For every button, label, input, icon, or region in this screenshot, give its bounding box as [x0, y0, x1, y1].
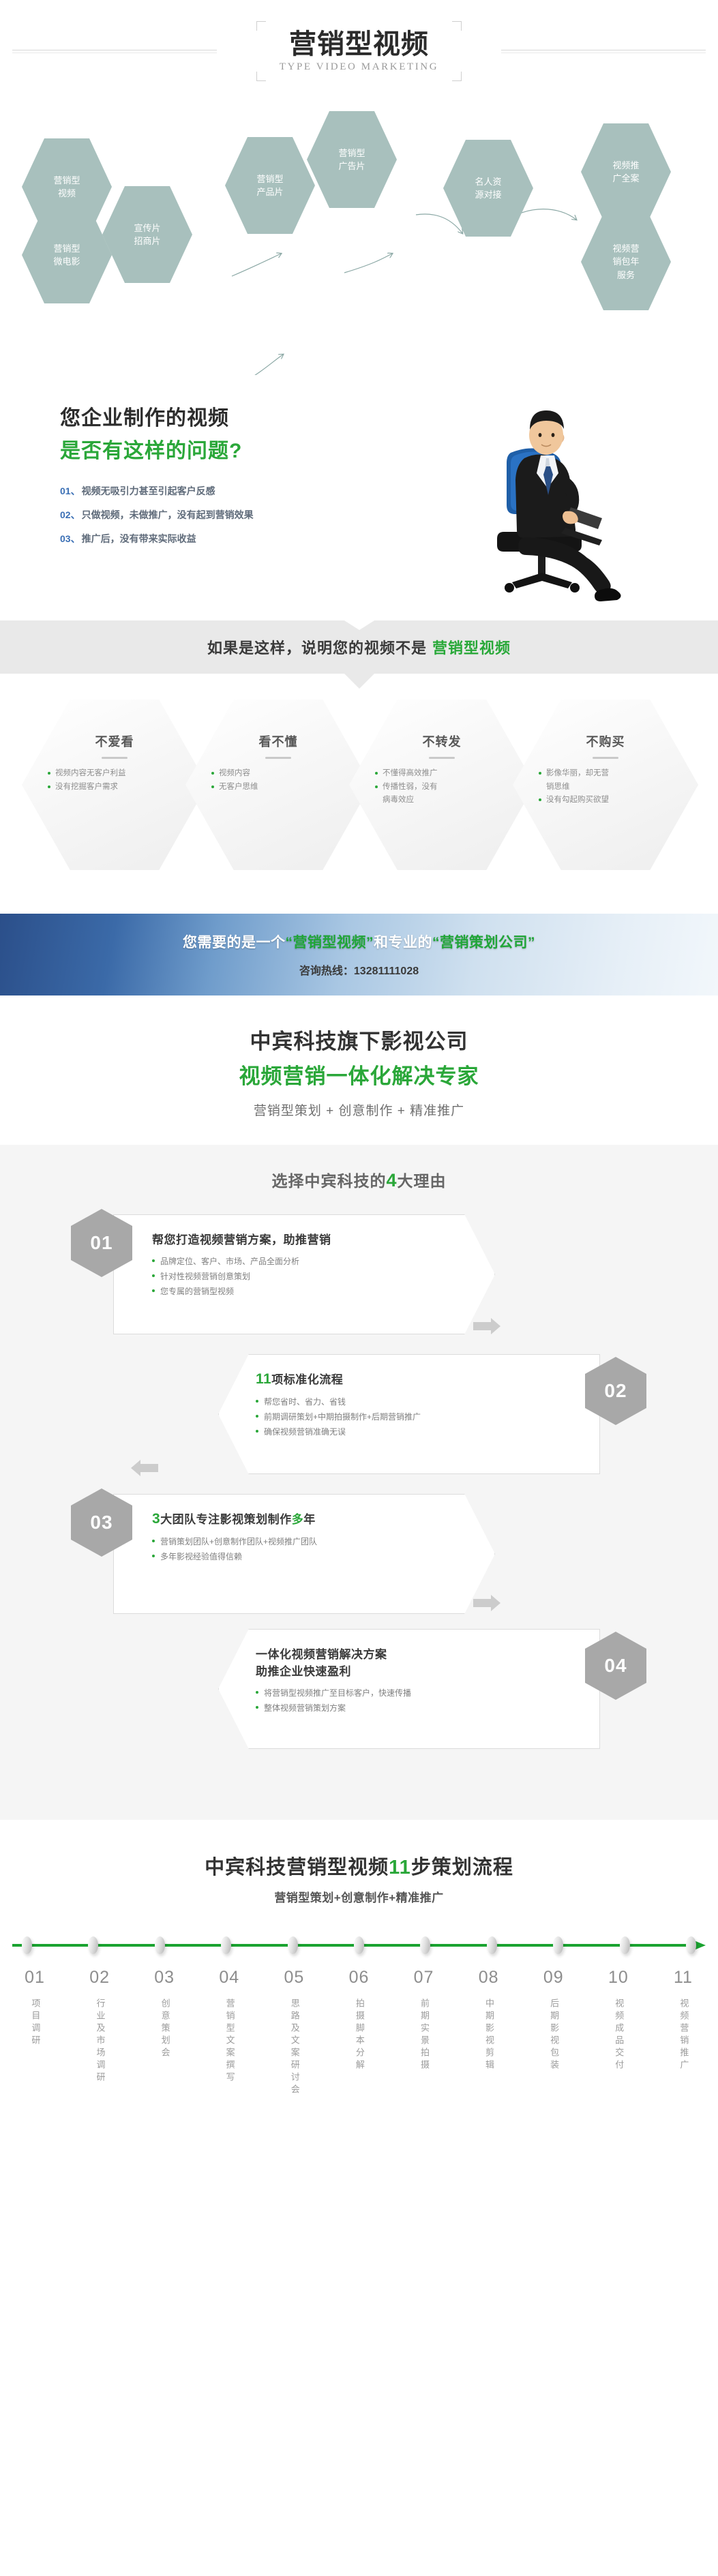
timeline-node[interactable] — [420, 1936, 430, 1954]
flow-arrow-icon — [470, 1318, 502, 1345]
divider — [429, 757, 455, 759]
reason-heading-text: 帮您打造视频营销方案，助推营销 — [152, 1233, 331, 1246]
reason-bullets: 帮您省时、省力、省钱 前期调研策划+中期拍摄制作+后期营销推广 确保视频营销准确… — [256, 1394, 558, 1440]
problem-heading-dark: 您企业制作的视频 — [60, 401, 380, 431]
reason-item-3[interactable]: 3大团队专注影视策划制作多年 营销策划团队+创意制作团队+视频推广团队 多年影视… — [61, 1488, 498, 1618]
reason-card: 一体化视频营销解决方案 助推企业快速盈利 将营销型视频推广至目标客户，快速传播 … — [218, 1629, 600, 1749]
hotline-number: 13281111028 — [354, 965, 419, 977]
reason-item-2[interactable]: 11项标准化流程 帮您省时、省力、省钱 前期调研策划+中期拍摄制作+后期营销推广… — [218, 1349, 655, 1478]
divider — [593, 757, 618, 759]
reason-heading: 11项标准化流程 — [256, 1370, 558, 1388]
timeline-step-label: 行业及市场调研 — [92, 1998, 108, 2084]
problem-heading-green: 是否有这样的问题? — [60, 434, 380, 464]
timeline-step-index: 09 — [527, 1968, 580, 1988]
list-item: 营销策划团队+创意制作团队+视频推广团队 — [152, 1534, 467, 1549]
corner-bracket-icon — [452, 72, 462, 81]
hex-label-line1: 营销型 — [256, 173, 283, 186]
timeline-step[interactable]: 01 项目调研 — [8, 1968, 61, 2100]
timeline-node[interactable] — [221, 1936, 231, 1954]
cta-quote-1: “营销型视频” — [286, 935, 374, 950]
reason-card: 帮您打造视频营销方案，助推营销 品牌定位、客户、市场、产品全面分析 针对性视频营… — [113, 1214, 495, 1334]
problem-item-text: 视频无吸引力甚至引起客户反感 — [82, 485, 215, 496]
timeline-section: 中宾科技营销型视频11步策划流程 营销型策划+创意制作+精准推广 — [0, 1820, 718, 2127]
hex-service-6[interactable]: 名人资 源对接 — [443, 138, 533, 239]
timeline-step-label: 后期影视包装 — [545, 1998, 561, 2072]
hex-label-line2: 产品片 — [256, 185, 283, 199]
hex-label-line1: 营销型 — [338, 147, 365, 160]
list-item: 无客户思维 — [211, 781, 345, 794]
timeline-track — [12, 1936, 706, 1954]
symptom-card-3[interactable]: 不转发 不懂得高效推广 传播性弱，没有 病毒效应 — [349, 700, 535, 870]
timeline-step-index: 11 — [657, 1968, 710, 1988]
timeline-step-index: 05 — [267, 1968, 320, 1988]
list-item: 视频内容 — [211, 767, 345, 781]
hex-label-line1: 名人资 — [475, 175, 501, 189]
symptom-card-title: 不购买 — [586, 732, 625, 750]
hex-label-line2: 源对接 — [475, 188, 501, 202]
gray-banner-green: 营销型视频 — [432, 640, 511, 657]
notch-top-icon — [344, 620, 374, 630]
page-header: 营销型视频 TYPE VIDEO MARKETING — [0, 0, 718, 102]
timeline-title-suffix: 步策划流程 — [411, 1857, 513, 1878]
timeline-step[interactable]: 07 前期实景拍摄 — [398, 1968, 451, 2100]
hex-label-line2: 招商片 — [134, 235, 160, 248]
symptom-card-title: 不转发 — [423, 732, 462, 750]
reason-heading-text: 大团队专注影视策划制作 — [160, 1513, 292, 1526]
timeline-step-label: 前期实景拍摄 — [416, 1998, 432, 2072]
timeline-step-index: 03 — [138, 1968, 191, 1988]
problem-section: 您企业制作的视频 是否有这样的问题? 01、视频无吸引力甚至引起客户反感 02、… — [0, 375, 718, 620]
timeline-node[interactable] — [22, 1936, 32, 1954]
reason-body: 3大团队专注影视策划制作多年 营销策划团队+创意制作团队+视频推广团队 多年影视… — [114, 1495, 494, 1564]
list-item: 整体视频营销策划方案 — [256, 1701, 558, 1716]
reasons-title-number: 4 — [386, 1170, 397, 1190]
gray-banner-dark: 如果是这样，说明您的视频不是 — [207, 640, 427, 657]
corner-bracket-icon — [452, 21, 462, 31]
reasons-title-suffix: 大理由 — [398, 1172, 447, 1190]
list-item-continuation: 病毒效应 — [375, 794, 509, 807]
timeline-step[interactable]: 03 创意策划会 — [138, 1968, 191, 2100]
timeline-node[interactable] — [288, 1936, 298, 1954]
hotline[interactable]: 咨询热线：13281111028 — [299, 961, 419, 978]
service-hex-map: 营销型 视频 宣传片 招商片 营销型 微电影 营销型 产品片 — [0, 102, 718, 375]
symptom-card-4[interactable]: 不购买 影像华丽，却无营 销思维 没有勾起购买欲望 — [513, 700, 698, 870]
timeline-step-label: 视频营销推广 — [676, 1998, 691, 2072]
reason-heading-number: 3 — [152, 1511, 160, 1527]
hex-label-line2: 视频 — [53, 187, 80, 200]
problem-text-block: 您企业制作的视频 是否有这样的问题? 01、视频无吸引力甚至引起客户反感 02、… — [60, 401, 380, 556]
timeline-steps: 01 项目调研 02 行业及市场调研 03 创意策划会 04 营销型文案撰写 0… — [0, 1954, 718, 2100]
timeline-node[interactable] — [686, 1936, 696, 1954]
reason-heading: 3大团队专注影视策划制作多年 — [152, 1510, 467, 1527]
reasons-section: 选择中宾科技的4大理由 帮您打造视频营销方案，助推营销 品牌定位、客户、市场、产… — [0, 1145, 718, 1820]
hex-label-line1: 营销型 — [53, 242, 80, 256]
timeline-step-index: 06 — [332, 1968, 385, 1988]
timeline-step-index: 10 — [592, 1968, 645, 1988]
timeline-step[interactable]: 08 中期影视剪辑 — [462, 1968, 515, 2100]
timeline-step-label: 视频成品交付 — [610, 1998, 626, 2072]
reason-card: 3大团队专注影视策划制作多年 营销策划团队+创意制作团队+视频推广团队 多年影视… — [113, 1494, 495, 1614]
symptom-card-title: 看不懂 — [259, 732, 298, 750]
hex-label-line1: 视频推 — [612, 159, 639, 173]
hex-label-line1: 宣传片 — [134, 222, 160, 235]
list-item: 您专属的营销型视频 — [152, 1284, 467, 1299]
hex-label-line2: 销包年 — [612, 255, 639, 269]
problem-list: 01、视频无吸引力甚至引起客户反感 02、只做视频，未做推广，没有起到营销效果 … — [60, 484, 380, 545]
corner-bracket-icon — [256, 21, 266, 31]
timeline-title: 中宾科技营销型视频11步策划流程 — [0, 1851, 718, 1880]
timeline-node[interactable] — [553, 1936, 563, 1954]
hex-label-line2: 微电影 — [53, 255, 80, 269]
problem-item-text: 推广后，没有带来实际收益 — [82, 533, 196, 544]
landing-page: 营销型视频 TYPE VIDEO MARKETING 营销型 视频 — [0, 0, 718, 2127]
cta-quote-2: “营销策划公司” — [432, 935, 535, 950]
symptom-cards-row: 不爱看 视频内容无客户利益 没有挖掘客户需求 看不懂 视频内容 无客户思维 — [0, 700, 718, 877]
list-item: 品牌定位、客户、市场、产品全面分析 — [152, 1254, 467, 1269]
timeline-node[interactable] — [620, 1936, 630, 1954]
reason-item-1[interactable]: 帮您打造视频营销方案，助推营销 品牌定位、客户、市场、产品全面分析 针对性视频营… — [61, 1209, 498, 1338]
reason-heading-tail: 助推企业快速盈利 — [256, 1665, 351, 1678]
hex-service-8[interactable]: 视频营 销包年 服务 — [581, 211, 671, 312]
timeline-step-label: 思路及文案研讨会 — [286, 1998, 302, 2097]
problem-item-number: 02、 — [60, 509, 80, 520]
header-title-box: 营销型视频 TYPE VIDEO MARKETING — [256, 21, 462, 81]
businessman-illustration — [425, 387, 650, 605]
cta-prefix: 您需要的是一个 — [183, 935, 286, 950]
timeline-title-number: 11 — [389, 1857, 411, 1878]
corner-bracket-icon — [256, 72, 266, 81]
problem-list-item: 01、视频无吸引力甚至引起客户反感 — [60, 484, 380, 498]
problem-item-text: 只做视频，未做推广，没有起到营销效果 — [82, 509, 254, 520]
problem-item-number: 03、 — [60, 533, 80, 544]
reason-heading-number: 11 — [256, 1371, 271, 1387]
list-item: 传播性弱，没有 — [375, 781, 509, 794]
timeline-step-label: 中期影视剪辑 — [481, 1998, 496, 2072]
reason-heading-text: 一体化视频营销解决方案 — [256, 1648, 387, 1661]
timeline-step-label: 营销型文案撰写 — [222, 1998, 237, 2084]
company-tagline: 营销型策划 + 创意制作 + 精准推广 — [0, 1100, 718, 1119]
hex-service-3[interactable]: 营销型 微电影 — [22, 205, 112, 305]
timeline-step-label: 创意策划会 — [157, 1998, 173, 2060]
hex-label-line1: 视频营 — [612, 242, 639, 256]
timeline-node[interactable] — [88, 1936, 98, 1954]
reason-body: 一体化视频营销解决方案 助推企业快速盈利 将营销型视频推广至目标客户，快速传播 … — [219, 1630, 599, 1716]
company-subheading: 视频营销一体化解决专家 — [0, 1059, 718, 1090]
problem-list-item: 03、推广后，没有带来实际收益 — [60, 532, 380, 545]
timeline-node[interactable] — [354, 1936, 364, 1954]
timeline-step-index: 02 — [73, 1968, 126, 1988]
page-subtitle: TYPE VIDEO MARKETING — [280, 61, 438, 73]
reason-card: 11项标准化流程 帮您省时、省力、省钱 前期调研策划+中期拍摄制作+后期营销推广… — [218, 1354, 600, 1474]
gray-banner: 如果是这样，说明您的视频不是营销型视频 — [0, 620, 718, 674]
hex-service-2[interactable]: 宣传片 招商片 — [102, 184, 192, 285]
timeline-step[interactable]: 02 行业及市场调研 — [73, 1968, 126, 2100]
timeline-step-index: 01 — [8, 1968, 61, 1988]
timeline-step[interactable]: 06 拍摄脚本分解 — [332, 1968, 385, 2100]
company-section: 中宾科技旗下影视公司 视频营销一体化解决专家 营销型策划 + 创意制作 + 精准… — [0, 995, 718, 1145]
list-item: 多年影视经验值得信赖 — [152, 1549, 467, 1564]
list-item: 帮您省时、省力、省钱 — [256, 1394, 558, 1409]
problem-item-number: 01、 — [60, 485, 80, 496]
cta-blue-banner: 您需要的是一个“营销型视频”和专业的“营销策划公司” 咨询热线：13281111… — [0, 914, 718, 995]
symptom-card-1[interactable]: 不爱看 视频内容无客户利益 没有挖掘客户需求 — [22, 700, 207, 870]
reason-bullets: 将营销型视频推广至目标客户，快速传播 整体视频营销策划方案 — [256, 1686, 558, 1716]
cta-headline: 您需要的是一个“营销型视频”和专业的“营销策划公司” — [183, 931, 535, 952]
timeline-step-index: 08 — [462, 1968, 515, 1988]
hex-service-5[interactable]: 营销型 广告片 — [307, 109, 397, 210]
timeline-step[interactable]: 10 视频成品交付 — [592, 1968, 645, 2100]
gray-banner-text: 如果是这样，说明您的视频不是营销型视频 — [207, 636, 511, 658]
reason-bullets: 营销策划团队+创意制作团队+视频推广团队 多年影视经验值得信赖 — [152, 1534, 467, 1564]
reasons-title: 选择中宾科技的4大理由 — [0, 1168, 718, 1191]
list-item-continuation: 销思维 — [539, 781, 672, 794]
symptom-card-list: 视频内容无客户利益 没有挖掘客户需求 — [48, 767, 181, 794]
list-item: 没有勾起购买欲望 — [539, 794, 672, 807]
hotline-label: 咨询热线： — [299, 965, 354, 977]
hex-group: 营销型 视频 宣传片 招商片 营销型 微电影 营销型 产品片 — [0, 102, 718, 375]
reason-heading-accent: 多 — [292, 1513, 304, 1526]
list-item: 针对性视频营销创意策划 — [152, 1269, 467, 1284]
reason-heading-text: 项标准化流程 — [271, 1373, 343, 1386]
reasons-list: 帮您打造视频营销方案，助推营销 品牌定位、客户、市场、产品全面分析 针对性视频营… — [0, 1209, 718, 1788]
reasons-title-prefix: 选择中宾科技的 — [271, 1172, 386, 1190]
symptom-card-list: 视频内容 无客户思维 — [211, 767, 345, 794]
divider — [102, 757, 128, 759]
reason-body: 帮您打造视频营销方案，助推营销 品牌定位、客户、市场、产品全面分析 针对性视频营… — [114, 1215, 494, 1300]
page-title: 营销型视频 — [280, 29, 438, 59]
list-item: 确保视频营销准确无误 — [256, 1424, 558, 1439]
flow-arrow-icon — [470, 1595, 502, 1622]
hex-label-line3: 服务 — [612, 269, 639, 282]
symptom-card-list: 影像华丽，却无营 销思维 没有勾起购买欲望 — [539, 767, 672, 807]
timeline-step-index: 04 — [203, 1968, 256, 1988]
symptom-card-2[interactable]: 看不懂 视频内容 无客户思维 — [185, 700, 371, 870]
list-item: 不懂得高效推广 — [375, 767, 509, 781]
timeline-node[interactable] — [487, 1936, 497, 1954]
problem-list-item: 02、只做视频，未做推广，没有起到营销效果 — [60, 508, 380, 522]
divider — [265, 757, 291, 759]
reason-heading: 帮您打造视频营销方案，助推营销 — [152, 1230, 467, 1247]
timeline-step-label: 项目调研 — [27, 1998, 43, 2048]
timeline-step-index: 07 — [398, 1968, 451, 1988]
timeline-node[interactable] — [155, 1936, 165, 1954]
timeline-step[interactable]: 09 后期影视包装 — [527, 1968, 580, 2100]
hex-label-line1: 营销型 — [53, 174, 80, 188]
symptom-cards-section: 不爱看 视频内容无客户利益 没有挖掘客户需求 看不懂 视频内容 无客户思维 — [0, 674, 718, 899]
list-item: 没有挖掘客户需求 — [48, 781, 181, 794]
hex-label-line2: 广告片 — [338, 160, 365, 173]
reason-bullets: 品牌定位、客户、市场、产品全面分析 针对性视频营销创意策划 您专属的营销型视频 — [152, 1254, 467, 1300]
timeline-step-label: 拍摄脚本分解 — [351, 1998, 367, 2072]
cta-middle: 和专业的 — [374, 935, 432, 950]
symptom-card-list: 不懂得高效推广 传播性弱，没有 病毒效应 — [375, 767, 509, 807]
timeline-subtitle: 营销型策划+创意制作+精准推广 — [0, 1888, 718, 1905]
reason-heading: 一体化视频营销解决方案 助推企业快速盈利 — [256, 1645, 558, 1679]
reason-item-4[interactable]: 一体化视频营销解决方案 助推企业快速盈利 将营销型视频推广至目标客户，快速传播 … — [218, 1623, 655, 1753]
symptom-card-title: 不爱看 — [95, 732, 134, 750]
hex-service-4[interactable]: 营销型 产品片 — [225, 135, 315, 236]
hex-label-line2: 广全案 — [612, 172, 639, 185]
list-item: 视频内容无客户利益 — [48, 767, 181, 781]
timeline-step[interactable]: 11 视频营销推广 — [657, 1968, 710, 2100]
timeline-nodes — [12, 1936, 706, 1954]
hex-service-7[interactable]: 视频推 广全案 — [581, 121, 671, 222]
reason-body: 11项标准化流程 帮您省时、省力、省钱 前期调研策划+中期拍摄制作+后期营销推广… — [219, 1355, 599, 1440]
reason-heading-tail: 年 — [303, 1513, 316, 1526]
timeline-step[interactable]: 04 营销型文案撰写 — [203, 1968, 256, 2100]
list-item: 将营销型视频推广至目标客户，快速传播 — [256, 1686, 558, 1701]
list-item: 前期调研策划+中期拍摄制作+后期营销推广 — [256, 1409, 558, 1424]
list-item: 影像华丽，却无营 — [539, 767, 672, 781]
timeline-step[interactable]: 05 思路及文案研讨会 — [267, 1968, 320, 2100]
company-heading: 中宾科技旗下影视公司 — [0, 1024, 718, 1055]
flow-arrow-icon — [130, 1460, 161, 1487]
timeline-title-prefix: 中宾科技营销型视频 — [205, 1857, 389, 1878]
